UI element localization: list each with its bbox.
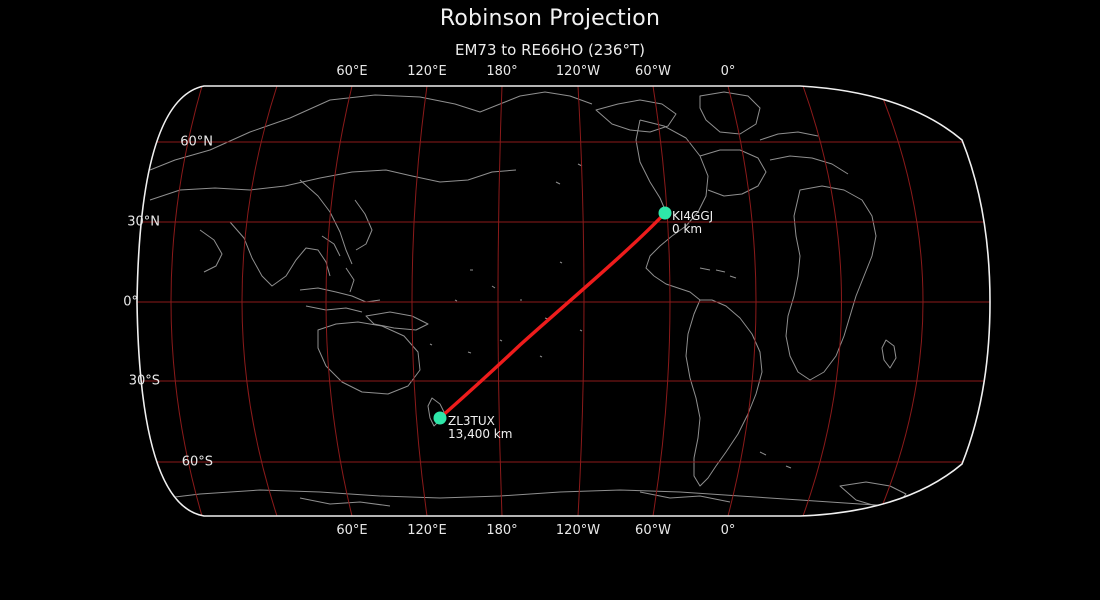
lon-label-top-4: 60°W [635,64,671,79]
station-label-destination: ZL3TUX [448,414,495,428]
lon-label-top-1: 120°E [407,64,447,79]
lon-label-bottom-0: 60°E [336,523,367,538]
lat-label-30N: 30°N [127,215,160,230]
lon-label-top-3: 120°W [556,64,600,79]
map-background [137,86,990,516]
lon-label-top-5: 0° [721,64,736,79]
lon-label-bottom-2: 180° [486,523,517,538]
station-label-origin: KI4GGJ [672,209,713,223]
lat-label-0: 0° [123,295,138,310]
station-distance-origin: 0 km [672,222,702,236]
lat-label-60N: 60°N [180,135,213,150]
marker-origin [659,207,672,220]
lon-label-bottom-4: 60°W [635,523,671,538]
lat-label-30S: 30°S [129,374,160,389]
lon-label-bottom-1: 120°E [407,523,447,538]
world-map [0,0,1100,600]
marker-destination [434,412,447,425]
station-distance-destination: 13,400 km [448,427,512,441]
lat-label-60S: 60°S [182,455,213,470]
lon-label-bottom-3: 120°W [556,523,600,538]
lon-label-top-0: 60°E [336,64,367,79]
map-figure: Robinson Projection EM73 to RE66HO (236°… [0,0,1100,600]
lon-label-top-2: 180° [486,64,517,79]
lon-label-bottom-5: 0° [721,523,736,538]
